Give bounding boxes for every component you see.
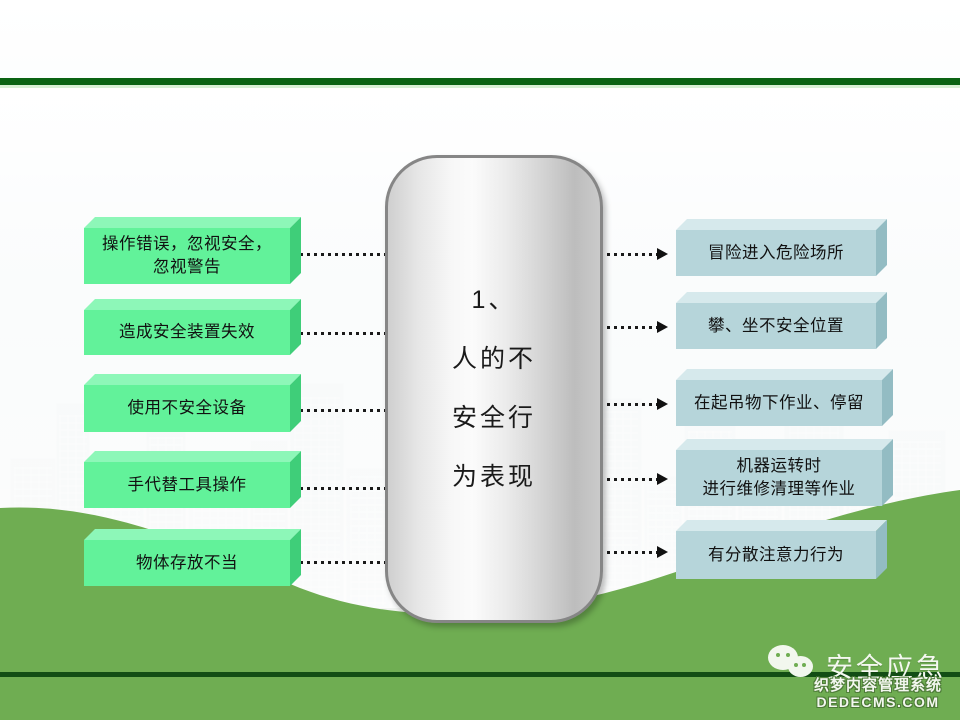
arrowhead-right-1	[657, 248, 668, 260]
connector-left-5	[300, 561, 385, 564]
connector-left-3	[300, 409, 385, 412]
left-item-label-2: 造成安全装置失效	[113, 321, 261, 344]
right-item-label-2: 攀、坐不安全位置	[702, 315, 850, 338]
left-item-label-4: 手代替工具操作	[122, 474, 253, 497]
wechat-icon	[768, 645, 820, 685]
connector-left-4	[300, 487, 385, 490]
left-item-box-2[interactable]: 造成安全装置失效	[84, 310, 290, 355]
right-item-label-1: 冒险进入危险场所	[702, 242, 850, 265]
arrowhead-right-5	[657, 546, 668, 558]
left-item-label-1: 操作错误，忽视安全， 忽视警告	[96, 233, 278, 279]
connector-right-2	[600, 326, 658, 329]
top-divider-glow	[0, 85, 960, 88]
left-item-label-5: 物体存放不当	[130, 552, 244, 575]
cms-watermark: 织梦内容管理系统 DEDECMS.COM	[814, 678, 942, 709]
right-item-box-1[interactable]: 冒险进入危险场所	[676, 230, 876, 276]
right-item-label-5: 有分散注意力行为	[702, 544, 850, 567]
left-item-box-1[interactable]: 操作错误，忽视安全， 忽视警告	[84, 228, 290, 284]
cms-watermark-cn: 织梦内容管理系统	[814, 678, 942, 694]
right-item-box-5[interactable]: 有分散注意力行为	[676, 531, 876, 579]
left-item-label-3: 使用不安全设备	[122, 397, 253, 420]
arrowhead-right-4	[657, 473, 668, 485]
connector-left-1	[300, 253, 385, 256]
left-item-box-3[interactable]: 使用不安全设备	[84, 385, 290, 432]
left-item-box-4[interactable]: 手代替工具操作	[84, 462, 290, 508]
arrowhead-right-3	[657, 398, 668, 410]
connector-left-2	[300, 332, 385, 335]
arrowhead-right-2	[657, 321, 668, 333]
right-item-box-3[interactable]: 在起吊物下作业、停留	[676, 380, 882, 426]
right-item-label-4: 机器运转时 进行维修清理等作业	[697, 455, 862, 501]
connector-right-4	[600, 478, 658, 481]
right-item-box-2[interactable]: 攀、坐不安全位置	[676, 303, 876, 349]
center-title: 1、 人的不 安全行 为表现	[452, 271, 536, 507]
connector-right-1	[600, 253, 658, 256]
left-item-box-5[interactable]: 物体存放不当	[84, 540, 290, 586]
connector-right-3	[600, 403, 658, 406]
right-item-box-4[interactable]: 机器运转时 进行维修清理等作业	[676, 450, 882, 506]
right-item-label-3: 在起吊物下作业、停留	[688, 392, 870, 415]
connector-right-5	[600, 551, 658, 554]
center-rounded-rect[interactable]: 1、 人的不 安全行 为表现	[385, 155, 603, 623]
cms-watermark-en: DEDECMS.COM	[814, 695, 942, 710]
top-divider-rule	[0, 78, 960, 85]
slide-canvas: 1、 人的不 安全行 为表现 操作错误，忽视安全， 忽视警告 造成安全装置失效 …	[0, 0, 960, 720]
